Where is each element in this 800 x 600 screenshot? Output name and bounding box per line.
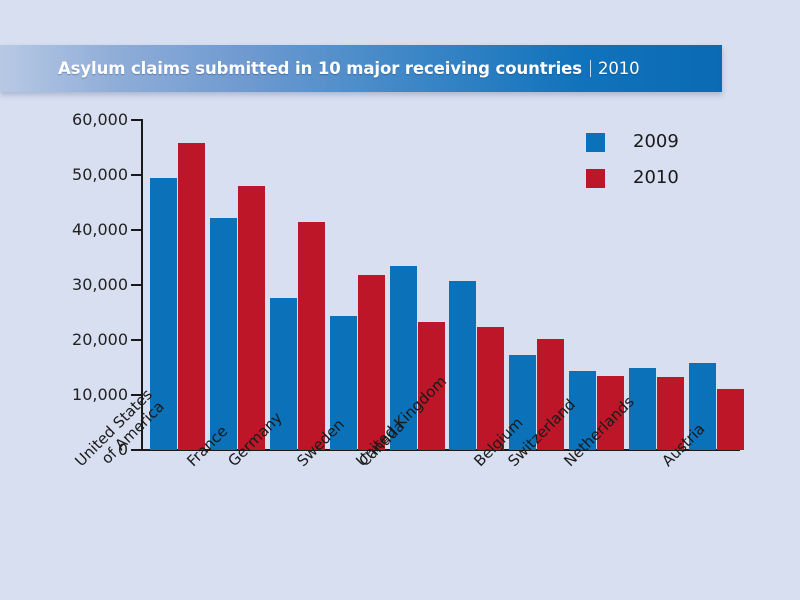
x-axis-label-sweden: Sweden bbox=[294, 416, 348, 470]
x-axis-label-united-states-of-america: United Statesof America bbox=[72, 386, 168, 482]
x-axis-label-germany: Germany bbox=[225, 409, 286, 470]
legend-label-2009: 2009 bbox=[633, 128, 679, 156]
x-axis-labels: United Statesof AmericaFranceGermanySwed… bbox=[0, 0, 800, 600]
legend-label-2010: 2010 bbox=[633, 164, 679, 192]
bar-chart: 60,00050,00040,00030,00020,00010,0000 Un… bbox=[0, 0, 800, 600]
x-axis-label-france: France bbox=[184, 423, 231, 470]
x-axis-label-united-kingdom: United Kingdom bbox=[353, 373, 450, 470]
x-axis-label-austria: Austria bbox=[659, 421, 708, 470]
legend-swatch-2009-icon bbox=[586, 133, 605, 152]
legend-swatch-2010-icon bbox=[586, 169, 605, 188]
